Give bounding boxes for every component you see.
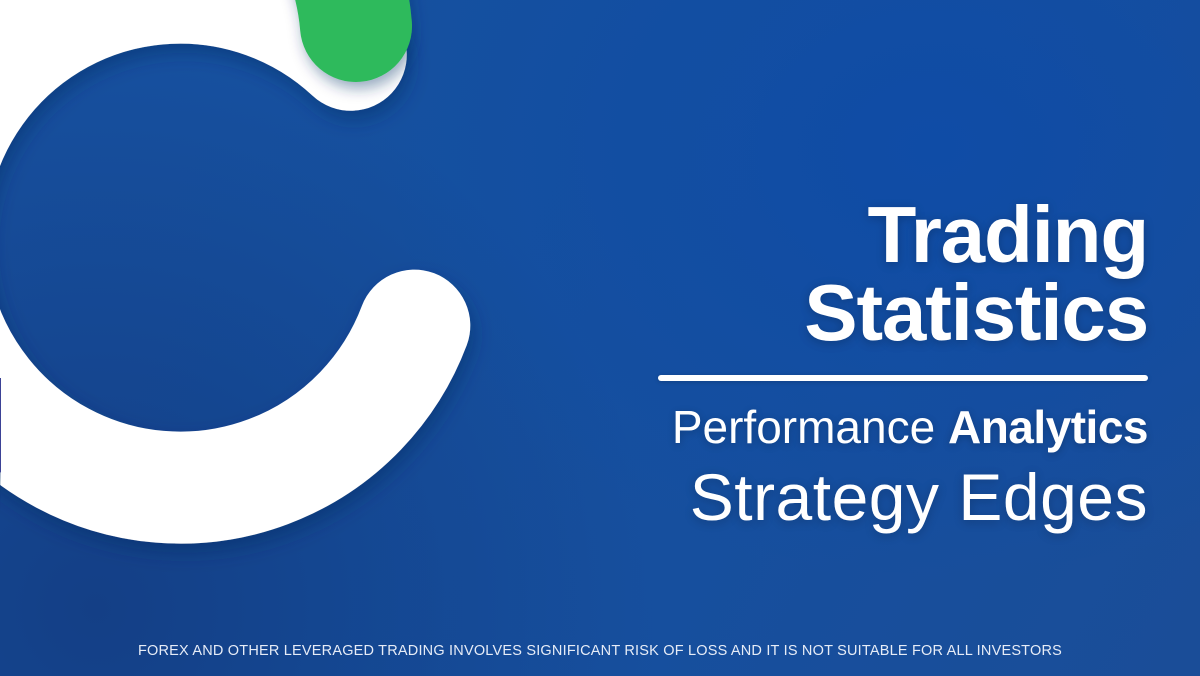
subtitle: Performance Analytics bbox=[528, 403, 1148, 451]
page-title-line-1: Trading bbox=[528, 196, 1148, 274]
risk-disclaimer: FOREX AND OTHER LEVERAGED TRADING INVOLV… bbox=[0, 643, 1200, 659]
headline-block: Trading Statistics Performance Analytics… bbox=[528, 196, 1148, 532]
poster-canvas: Trading Statistics Performance Analytics… bbox=[0, 0, 1200, 676]
page-title-line-2: Statistics bbox=[528, 274, 1148, 352]
donut-chart-graphic bbox=[0, 0, 590, 650]
title-divider-rule bbox=[658, 375, 1148, 381]
donut-segment-white bbox=[0, 0, 414, 488]
donut-segment-green bbox=[159, 0, 356, 26]
subtitle-bold-text: Analytics bbox=[948, 401, 1148, 453]
tagline: Strategy Edges bbox=[528, 463, 1148, 532]
subtitle-light-text: Performance bbox=[672, 401, 948, 453]
